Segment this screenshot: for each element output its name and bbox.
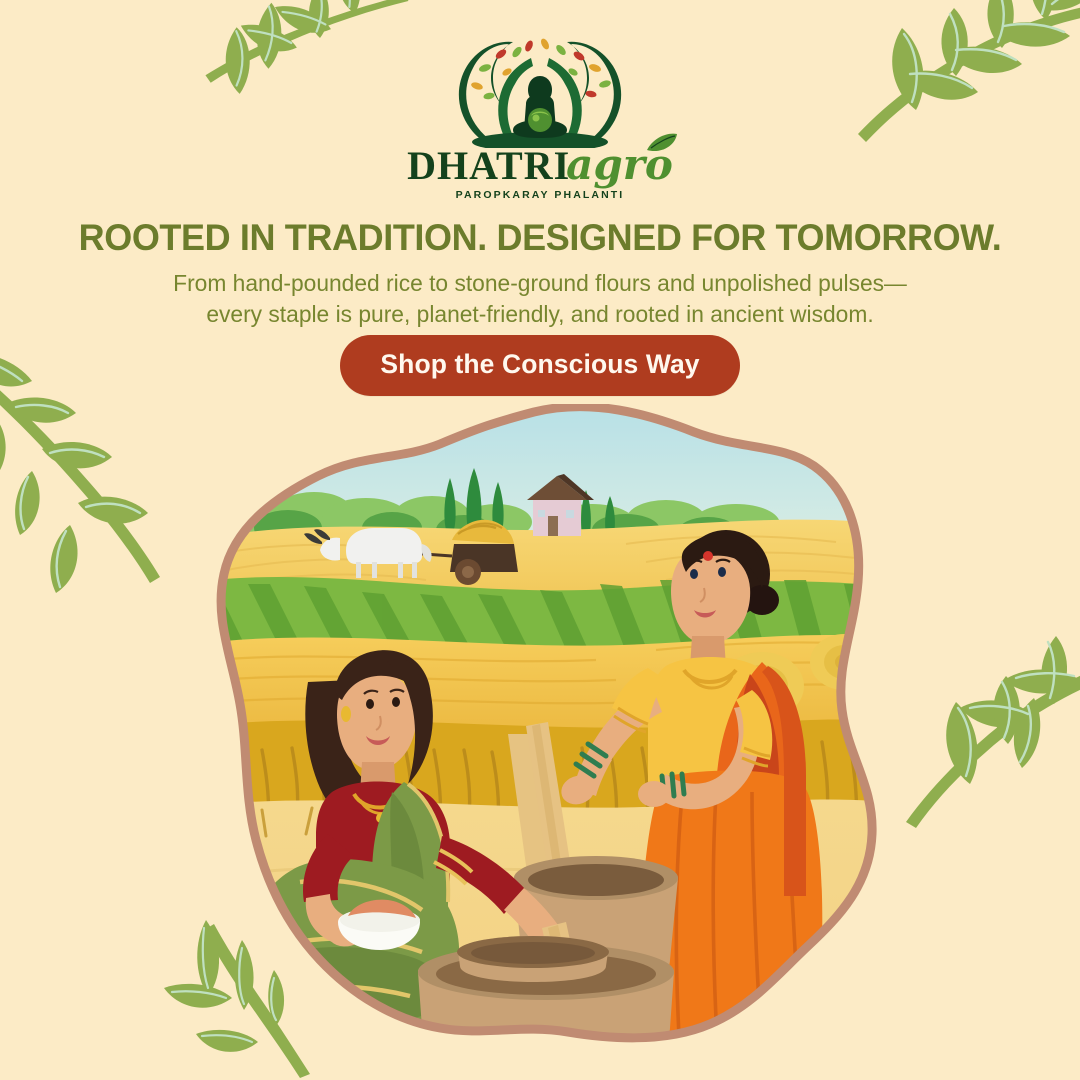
subtitle-line-1: From hand-pounded rice to stone-ground f…	[16, 268, 1064, 299]
page-subtitle: From hand-pounded rice to stone-ground f…	[16, 268, 1064, 329]
brand-logo[interactable]: DHATRI agro PAROPKARAY PHALANTI	[0, 38, 1080, 201]
logo-leaf-accent-icon	[645, 132, 679, 154]
page-title: ROOTED IN TRADITION. DESIGNED FOR TOMORR…	[22, 216, 1059, 259]
logo-wordmark: DHATRI agro	[407, 144, 673, 186]
logo-name-primary: DHATRI	[407, 146, 570, 186]
cta-row: Shop the Conscious Way	[0, 335, 1080, 396]
poster-canvas: DHATRI agro PAROPKARAY PHALANTI ROOTED I…	[0, 0, 1080, 1080]
tree-arch-with-seated-figure-icon	[433, 38, 647, 148]
subtitle-line-2: every staple is pure, planet-friendly, a…	[16, 299, 1064, 330]
logo-tagline: PAROPKARAY PHALANTI	[456, 189, 625, 201]
leaf-branch-mid-right-icon	[874, 640, 1080, 880]
hero-illustration	[196, 404, 886, 1066]
shop-cta-button[interactable]: Shop the Conscious Way	[340, 335, 739, 396]
logo-name-secondary: agro	[566, 144, 673, 186]
village-grain-scene-illustration	[196, 404, 886, 1066]
